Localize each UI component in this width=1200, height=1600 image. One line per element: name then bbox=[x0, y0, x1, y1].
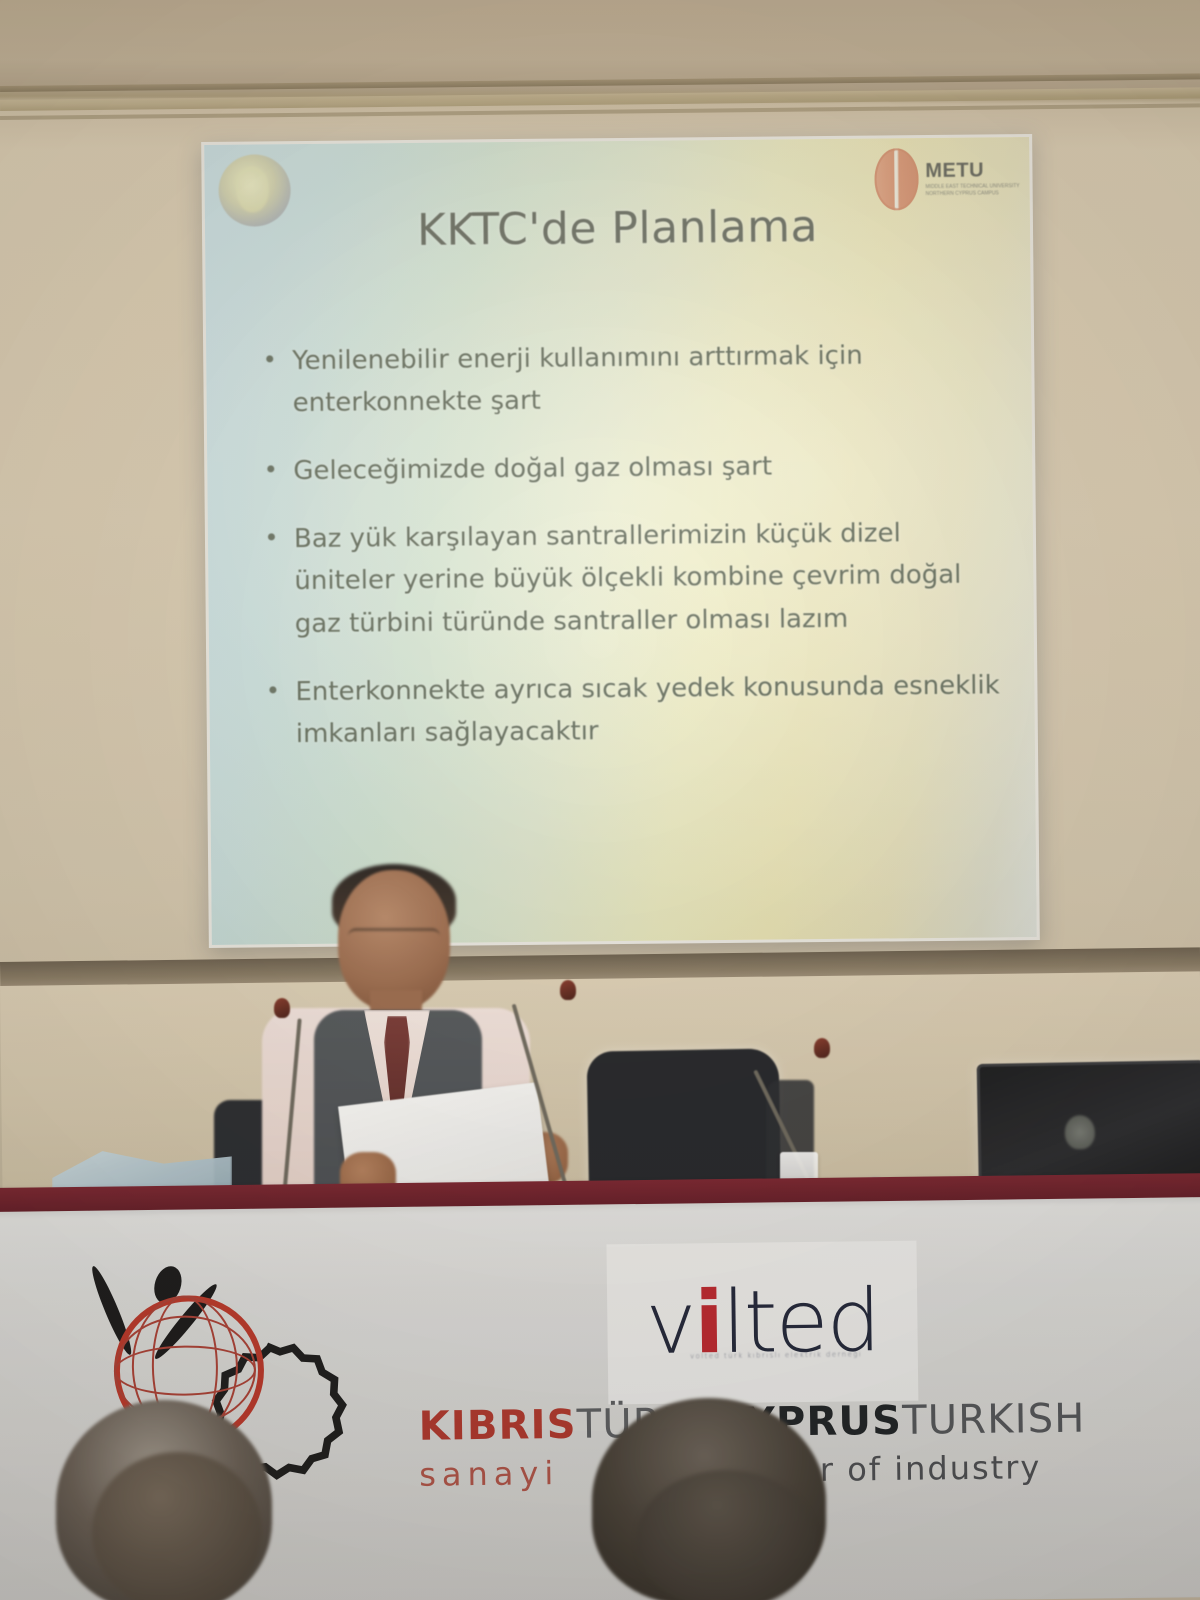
metu-abbrev: METU bbox=[925, 160, 1019, 181]
projection-screen: METU MIDDLE EAST TECHNICAL UNIVERSITY NO… bbox=[201, 134, 1040, 948]
metu-wordmark: METU MIDDLE EAST TECHNICAL UNIVERSITY NO… bbox=[925, 160, 1019, 197]
brand-turkish: TURKISH bbox=[902, 1396, 1086, 1444]
speaker-glasses bbox=[348, 928, 440, 951]
chamber-brand-line-primary: KIBRISTÜRKCYPRUSTURKISH bbox=[418, 1395, 1200, 1450]
brand-sanayi: sanayi bbox=[419, 1454, 559, 1494]
volted-word-pre: v bbox=[645, 1273, 695, 1374]
slide-bullet-item: Enterkonnekte ayrıca sıcak yedek konusun… bbox=[255, 664, 1005, 755]
microphone-center bbox=[556, 980, 676, 1208]
slide-title: KKTC'de Planlama bbox=[205, 199, 1030, 258]
microphone-left bbox=[268, 998, 298, 1198]
brand-kibris: KIBRIS bbox=[418, 1402, 577, 1450]
metu-subtitle-2: NORTHERN CYPRUS CAMPUS bbox=[926, 191, 1020, 197]
microphone-head-icon bbox=[560, 980, 576, 1000]
slide-bullet-item: Baz yük karşılayan santrallerimizin küçü… bbox=[254, 512, 1004, 646]
slide-bullet-item: Yenilenebilir enerji kullanımını arttırm… bbox=[252, 333, 1002, 424]
audience-head-left-hair bbox=[92, 1452, 262, 1600]
microphone-head-icon bbox=[274, 998, 290, 1018]
volted-logo: vilted volted türk kıbrıslı elektrik der… bbox=[606, 1241, 918, 1405]
microphone-head-icon bbox=[814, 1038, 830, 1058]
slide-bullet-item: Geleceğimizde doğal gaz olması şart bbox=[253, 444, 1002, 493]
volted-wordmark: vilted volted türk kıbrıslı elektrik der… bbox=[645, 1278, 880, 1367]
presentation-slide: METU MIDDLE EAST TECHNICAL UNIVERSITY NO… bbox=[204, 137, 1037, 945]
laptop-brand-logo-icon bbox=[1065, 1115, 1096, 1150]
metu-subtitle-1: MIDDLE EAST TECHNICAL UNIVERSITY bbox=[925, 184, 1019, 190]
presentation-photo-scene: METU MIDDLE EAST TECHNICAL UNIVERSITY NO… bbox=[0, 0, 1200, 1600]
slide-bullet-list: Yenilenebilir enerji kullanımını arttırm… bbox=[252, 333, 1005, 781]
audience-head-center-hair bbox=[636, 1470, 816, 1600]
